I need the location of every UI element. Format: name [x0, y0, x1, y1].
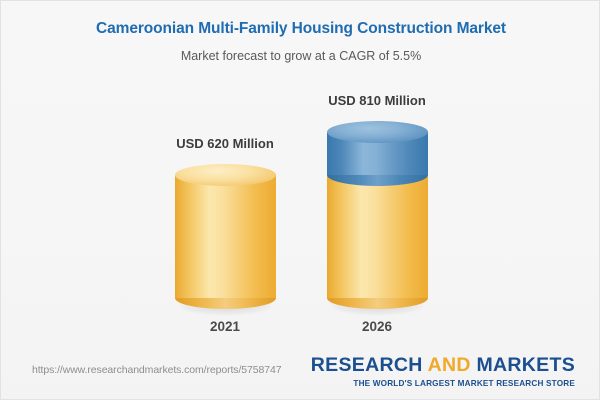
source-url-link[interactable]: https://www.researchandmarkets.com/repor…: [32, 363, 281, 377]
footer: https://www.researchandmarkets.com/repor…: [1, 347, 600, 399]
cylinder-body: [327, 175, 428, 298]
bar-category-label-2026: 2026: [297, 318, 457, 336]
bar-category-label-2021: 2021: [145, 318, 305, 336]
bar-cylinder-2021[interactable]: [175, 164, 276, 309]
brand-word-markets: MARKETS: [476, 354, 575, 376]
brand-word-and: AND: [423, 354, 477, 376]
bar-group-2021: USD 620 Million 2021: [145, 1, 305, 400]
brand-word-research: RESEARCH: [311, 354, 423, 376]
market-forecast-infographic: Cameroonian Multi-Family Housing Constru…: [0, 0, 600, 400]
cylinder-top-ellipse: [175, 164, 276, 186]
cylinder-body: [175, 175, 276, 298]
brand-tagline: THE WORLD'S LARGEST MARKET RESEARCH STOR…: [311, 377, 575, 389]
bar-segment-base-2021: [175, 164, 276, 309]
brand-logo[interactable]: RESEARCH AND MARKETS THE WORLD'S LARGEST…: [311, 354, 575, 389]
brand-wordmark: RESEARCH AND MARKETS: [311, 354, 575, 377]
bar-cylinder-2026[interactable]: [327, 121, 428, 309]
cylinder-top-ellipse: [327, 121, 428, 143]
bar-value-label-2026: USD 810 Million: [297, 93, 457, 109]
bar-segment-growth-2026: [327, 121, 428, 186]
bar-group-2026: USD 810 Million 2026: [297, 1, 457, 400]
bar-value-label-2021: USD 620 Million: [145, 136, 305, 152]
chart-plot-area: USD 620 Million 2021 USD 810 Million: [1, 1, 600, 400]
